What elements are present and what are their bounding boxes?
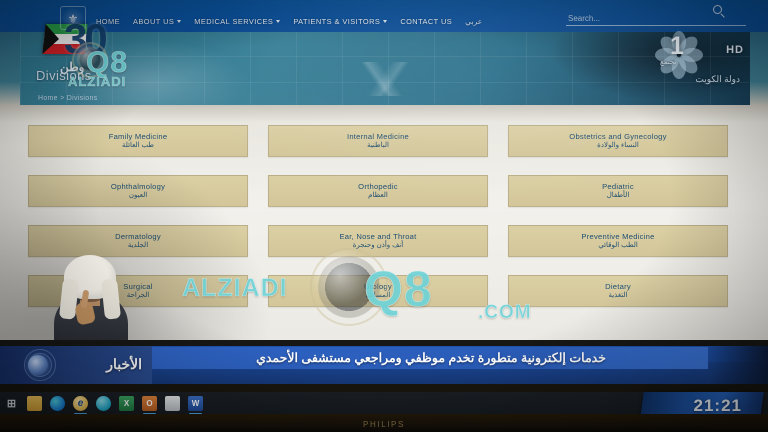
division-name-en: Urology <box>364 282 392 291</box>
word-icon[interactable]: W <box>188 396 203 411</box>
start-icon[interactable]: ⊞ <box>4 396 19 411</box>
division-name-en: Preventive Medicine <box>581 232 654 241</box>
news-section-label: الأخبار <box>106 356 142 373</box>
division-name-ar: الباطنية <box>367 141 389 150</box>
state-of-kuwait-label: دولة الكويت <box>695 74 740 85</box>
division-name-ar: الجلدية <box>128 241 148 250</box>
outlook-icon[interactable]: O <box>142 396 157 411</box>
nav-label: ABOUT US <box>133 17 174 26</box>
division-card-pediatric[interactable]: Pediatric الأطفال <box>508 175 728 207</box>
division-card-preventive-medicine[interactable]: Preventive Medicine الطب الوقائي <box>508 225 728 257</box>
division-card-obstetrics-and-gynecology[interactable]: Obstetrics and Gynecology النساء والولاد… <box>508 125 728 157</box>
division-name-en: Dietary <box>605 282 631 291</box>
tv-broadcast-screenshot: ⚜ 30 وطن HOME ABOUT US MEDICAL SERVICES … <box>0 0 768 432</box>
division-name-en: Dermatology <box>115 232 161 241</box>
division-name-ar: طب العائلة <box>122 141 154 150</box>
headline-fade <box>708 346 768 384</box>
division-name-en: Pediatric <box>602 182 634 191</box>
file-explorer-icon[interactable] <box>27 396 42 411</box>
channel-number: 1 <box>670 34 684 59</box>
clock: 21:21 <box>694 396 742 416</box>
news-headline: خدمات إلكترونية متطورة تخدم موظفي ومراجع… <box>160 348 702 368</box>
division-name-ar: أنف وأذن وحنجرة <box>353 241 403 250</box>
division-name-en: Internal Medicine <box>347 132 409 141</box>
lower-third-news-bar: خدمات إلكترونية متطورة تخدم موظفي ومراجع… <box>0 342 768 388</box>
nav-label: CONTACT US <box>400 17 452 26</box>
excel-icon[interactable]: X <box>119 396 134 411</box>
chevron-down-icon <box>276 20 280 23</box>
division-name-ar: النساء والولادة <box>597 141 639 150</box>
division-name-ar: الأطفال <box>607 191 630 200</box>
nav-item-patients-and-visitors[interactable]: PATIENTS & VISITORS <box>293 17 387 26</box>
division-name-ar: العظام <box>368 191 388 200</box>
monitor-brand: PHILIPS <box>363 420 405 429</box>
news-globe-icon <box>28 355 48 375</box>
skype-icon[interactable] <box>96 396 111 411</box>
division-card-urology[interactable]: Urology المسالك <box>268 275 488 307</box>
nav-item-home[interactable]: HOME <box>96 17 120 26</box>
division-name-ar: المسالك <box>366 291 391 300</box>
division-card-internal-medicine[interactable]: Internal Medicine الباطنية <box>268 125 488 157</box>
search-input[interactable] <box>566 13 746 26</box>
division-card-orthopedic[interactable]: Orthopedic العظام <box>268 175 488 207</box>
divisions-row: Family Medicine طب العائلة Internal Medi… <box>28 125 728 157</box>
division-name-ar: التغذية <box>609 291 628 300</box>
divisions-row: Ophthalmology العيون Orthopedic العظام P… <box>28 175 728 207</box>
chevron-down-icon <box>383 20 387 23</box>
division-card-family-medicine[interactable]: Family Medicine طب العائلة <box>28 125 248 157</box>
hero-ecg-line <box>78 62 691 97</box>
division-name-ar: العيون <box>129 191 147 200</box>
news-section-label-box: الأخبار <box>0 346 152 384</box>
division-name-en: Ear, Nose and Throat <box>339 232 416 241</box>
division-name-en: Orthopedic <box>358 182 398 191</box>
nav-label: MEDICAL SERVICES <box>194 17 273 26</box>
calculator-icon[interactable] <box>165 396 180 411</box>
division-name-ar: الطب الوقائي <box>598 241 638 250</box>
channel-logo-bug: 1 نجتمع HD دولة الكويت <box>634 30 746 88</box>
division-name-en: Obstetrics and Gynecology <box>569 132 666 141</box>
edge-icon[interactable] <box>50 396 65 411</box>
division-name-en: Ophthalmology <box>111 182 165 191</box>
nav-item-contact-us[interactable]: CONTACT US <box>400 17 452 26</box>
division-card-ear-nose-and-throat[interactable]: Ear, Nose and Throat أنف وأذن وحنجرة <box>268 225 488 257</box>
division-card-ophthalmology[interactable]: Ophthalmology العيون <box>28 175 248 207</box>
channel-tagline: نجتمع <box>660 58 676 66</box>
main-navigation[interactable]: HOME ABOUT US MEDICAL SERVICES PATIENTS … <box>96 14 482 28</box>
nav-item-about-us[interactable]: ABOUT US <box>133 17 181 26</box>
monitor-bezel: PHILIPS <box>0 414 768 432</box>
search-icon[interactable] <box>713 5 722 14</box>
nav-label: HOME <box>96 17 120 26</box>
division-card-dietary[interactable]: Dietary التغذية <box>508 275 728 307</box>
search-box[interactable] <box>566 8 746 26</box>
nav-item-arabic[interactable]: عربي <box>465 17 482 26</box>
nav-label: PATIENTS & VISITORS <box>293 17 380 26</box>
internet-explorer-icon[interactable]: e <box>73 396 88 411</box>
breadcrumb: Home > Divisions <box>38 95 97 102</box>
nav-label: عربي <box>465 17 482 26</box>
sign-language-interpreter <box>40 250 140 340</box>
hd-badge: HD <box>726 44 744 56</box>
interpreter-ghutra-headdress <box>64 255 116 299</box>
chevron-down-icon <box>177 20 181 23</box>
division-name-en: Family Medicine <box>109 132 168 141</box>
nav-item-medical-services[interactable]: MEDICAL SERVICES <box>194 17 280 26</box>
page-title: Divisions <box>36 68 92 83</box>
